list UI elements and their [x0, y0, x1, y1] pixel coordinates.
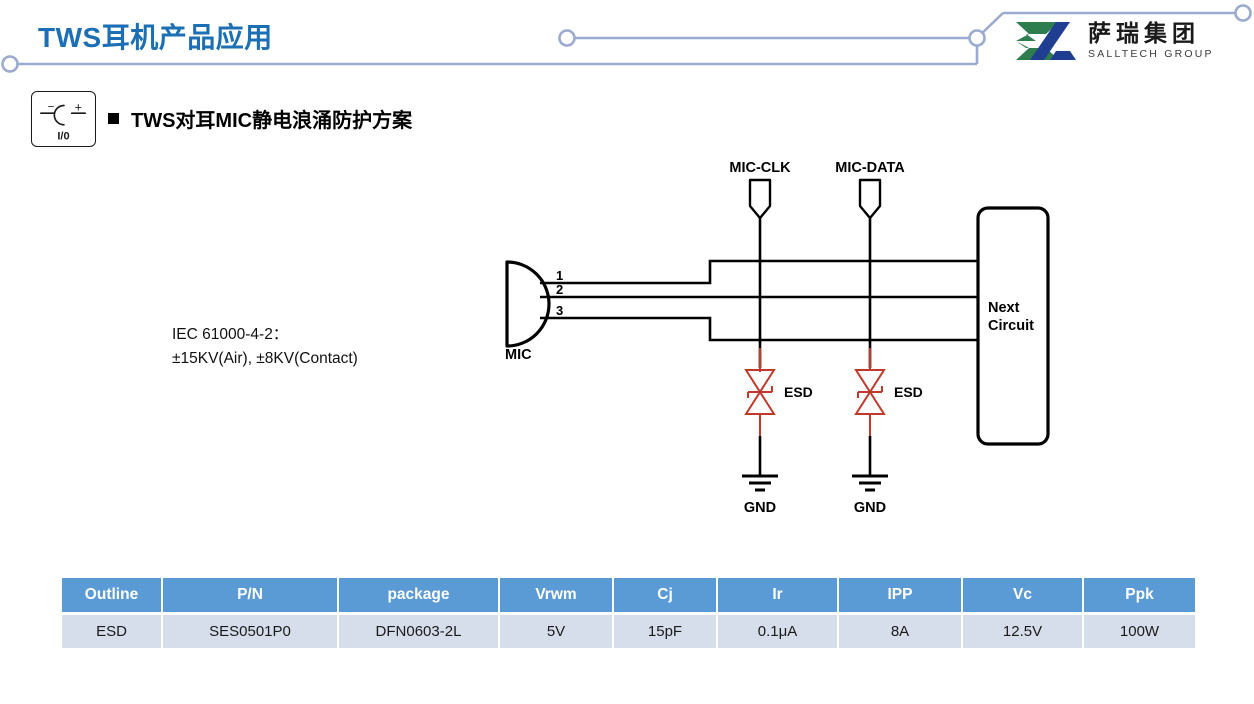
- table-row: ESD SES0501P0 DFN0603-2L 5V 15pF 0.1μA 8…: [62, 612, 1195, 648]
- column-header: P/N: [163, 578, 339, 612]
- bidirectional-tvs-diode-icon: [746, 348, 774, 436]
- circle-node-icon: [970, 31, 985, 46]
- net-label-mic-data: MIC-DATA: [835, 160, 905, 176]
- column-header: Ppk: [1084, 578, 1195, 612]
- svg-text:+: +: [75, 100, 82, 114]
- logo-name-cn: 萨瑞集团: [1088, 22, 1214, 45]
- svg-text:I/0: I/0: [57, 130, 69, 142]
- mic-label: MIC: [505, 347, 532, 363]
- pin-number: 1: [556, 268, 563, 283]
- table-header-row: Outline P/N package Vrwm Cj Ir IPP Vc Pp…: [62, 578, 1195, 612]
- esd-label: ESD: [894, 384, 923, 400]
- table-cell: 8A: [839, 612, 963, 648]
- pin-connector-icon: [750, 180, 770, 218]
- table-cell: ESD: [62, 612, 163, 648]
- ground-icon: [742, 476, 778, 490]
- table-cell: 100W: [1084, 612, 1195, 648]
- circle-node-icon: [560, 31, 575, 46]
- ground-icon: [852, 476, 888, 490]
- table-cell: 5V: [500, 612, 614, 648]
- io-protection-icon: − + I/0: [31, 91, 96, 147]
- bidirectional-tvs-diode-icon: [856, 348, 884, 436]
- column-header: Vc: [963, 578, 1084, 612]
- logo-name-en: SALLTECH GROUP: [1088, 49, 1214, 60]
- column-header: Cj: [614, 578, 718, 612]
- page-title: TWS耳机产品应用: [38, 16, 273, 56]
- company-logo: 萨瑞集团 SALLTECH GROUP: [1012, 18, 1214, 64]
- column-header: Outline: [62, 578, 163, 612]
- slide-canvas: TWS耳机产品应用 萨瑞集团 SALLTECH GROUP − + I/0 T: [0, 0, 1254, 704]
- column-header: Ir: [718, 578, 839, 612]
- esd-label: ESD: [784, 384, 813, 400]
- gnd-label: GND: [854, 500, 886, 516]
- table-cell: SES0501P0: [163, 612, 339, 648]
- next-circuit-label-line-2: Circuit: [988, 318, 1034, 334]
- square-bullet-icon: [108, 113, 119, 124]
- next-circuit-label-line-1: Next: [988, 300, 1020, 316]
- table-cell: 12.5V: [963, 612, 1084, 648]
- pin-number: 3: [556, 303, 563, 318]
- esd-protection-schematic: MIC 1 2 3 MIC-CLK MIC-DATA: [480, 150, 1100, 540]
- column-header: IPP: [839, 578, 963, 612]
- net-label-mic-clk: MIC-CLK: [729, 160, 791, 176]
- table-cell: 15pF: [614, 612, 718, 648]
- circle-node-icon: [1236, 6, 1251, 21]
- column-header: Vrwm: [500, 578, 614, 612]
- salltech-sl-logo-icon: [1012, 18, 1080, 64]
- column-header: package: [339, 578, 500, 612]
- gnd-label: GND: [744, 500, 776, 516]
- circle-node-icon: [3, 57, 18, 72]
- iec-note-line-2: ±15KV(Air), ±8KV(Contact): [172, 347, 358, 371]
- table-cell: DFN0603-2L: [339, 612, 500, 648]
- section-heading: TWS对耳MIC静电浪涌防护方案: [131, 104, 412, 133]
- microphone-capsule-icon: [507, 262, 549, 346]
- spec-table: Outline P/N package Vrwm Cj Ir IPP Vc Pp…: [62, 578, 1195, 648]
- svg-text:−: −: [48, 101, 55, 113]
- table-cell: 0.1μA: [718, 612, 839, 648]
- iec-note-line-1: IEC 61000-4-2：: [172, 323, 358, 347]
- pin-connector-icon: [860, 180, 880, 218]
- iec-standard-note: IEC 61000-4-2： ±15KV(Air), ±8KV(Contact): [172, 323, 358, 370]
